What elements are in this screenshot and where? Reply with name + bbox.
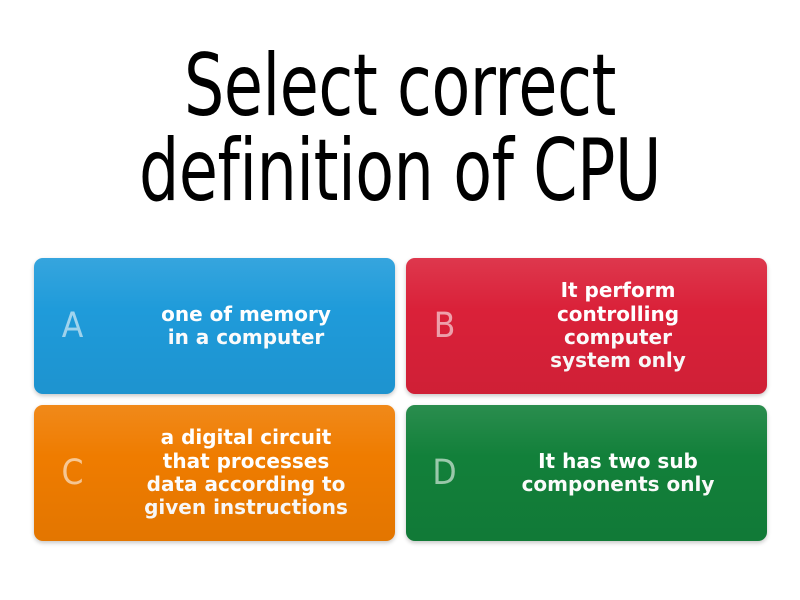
answer-letter-b: B [406,309,484,344]
answer-options-grid: A one of memory in a computer B It perfo… [0,258,800,600]
answer-option-b[interactable]: B It perform controlling computer system… [406,258,767,394]
answer-option-c[interactable]: C a digital circuit that processes data … [34,405,395,541]
answer-letter-d: D [406,456,484,491]
answer-text-c: a digital circuit that processes data ac… [112,426,395,520]
answer-option-a[interactable]: A one of memory in a computer [34,258,395,394]
answer-letter-a: A [34,309,112,344]
answer-letter-c: C [34,456,112,491]
question-title: Select correct definition of CPU [83,44,716,214]
answer-text-b: It perform controlling computer system o… [484,279,767,373]
answer-option-d[interactable]: D It has two sub components only [406,405,767,541]
quiz-screen: Select correct definition of CPU A one o… [0,0,800,600]
answer-text-d: It has two sub components only [484,450,767,497]
answer-text-a: one of memory in a computer [112,303,395,350]
question-area: Select correct definition of CPU [0,0,800,258]
